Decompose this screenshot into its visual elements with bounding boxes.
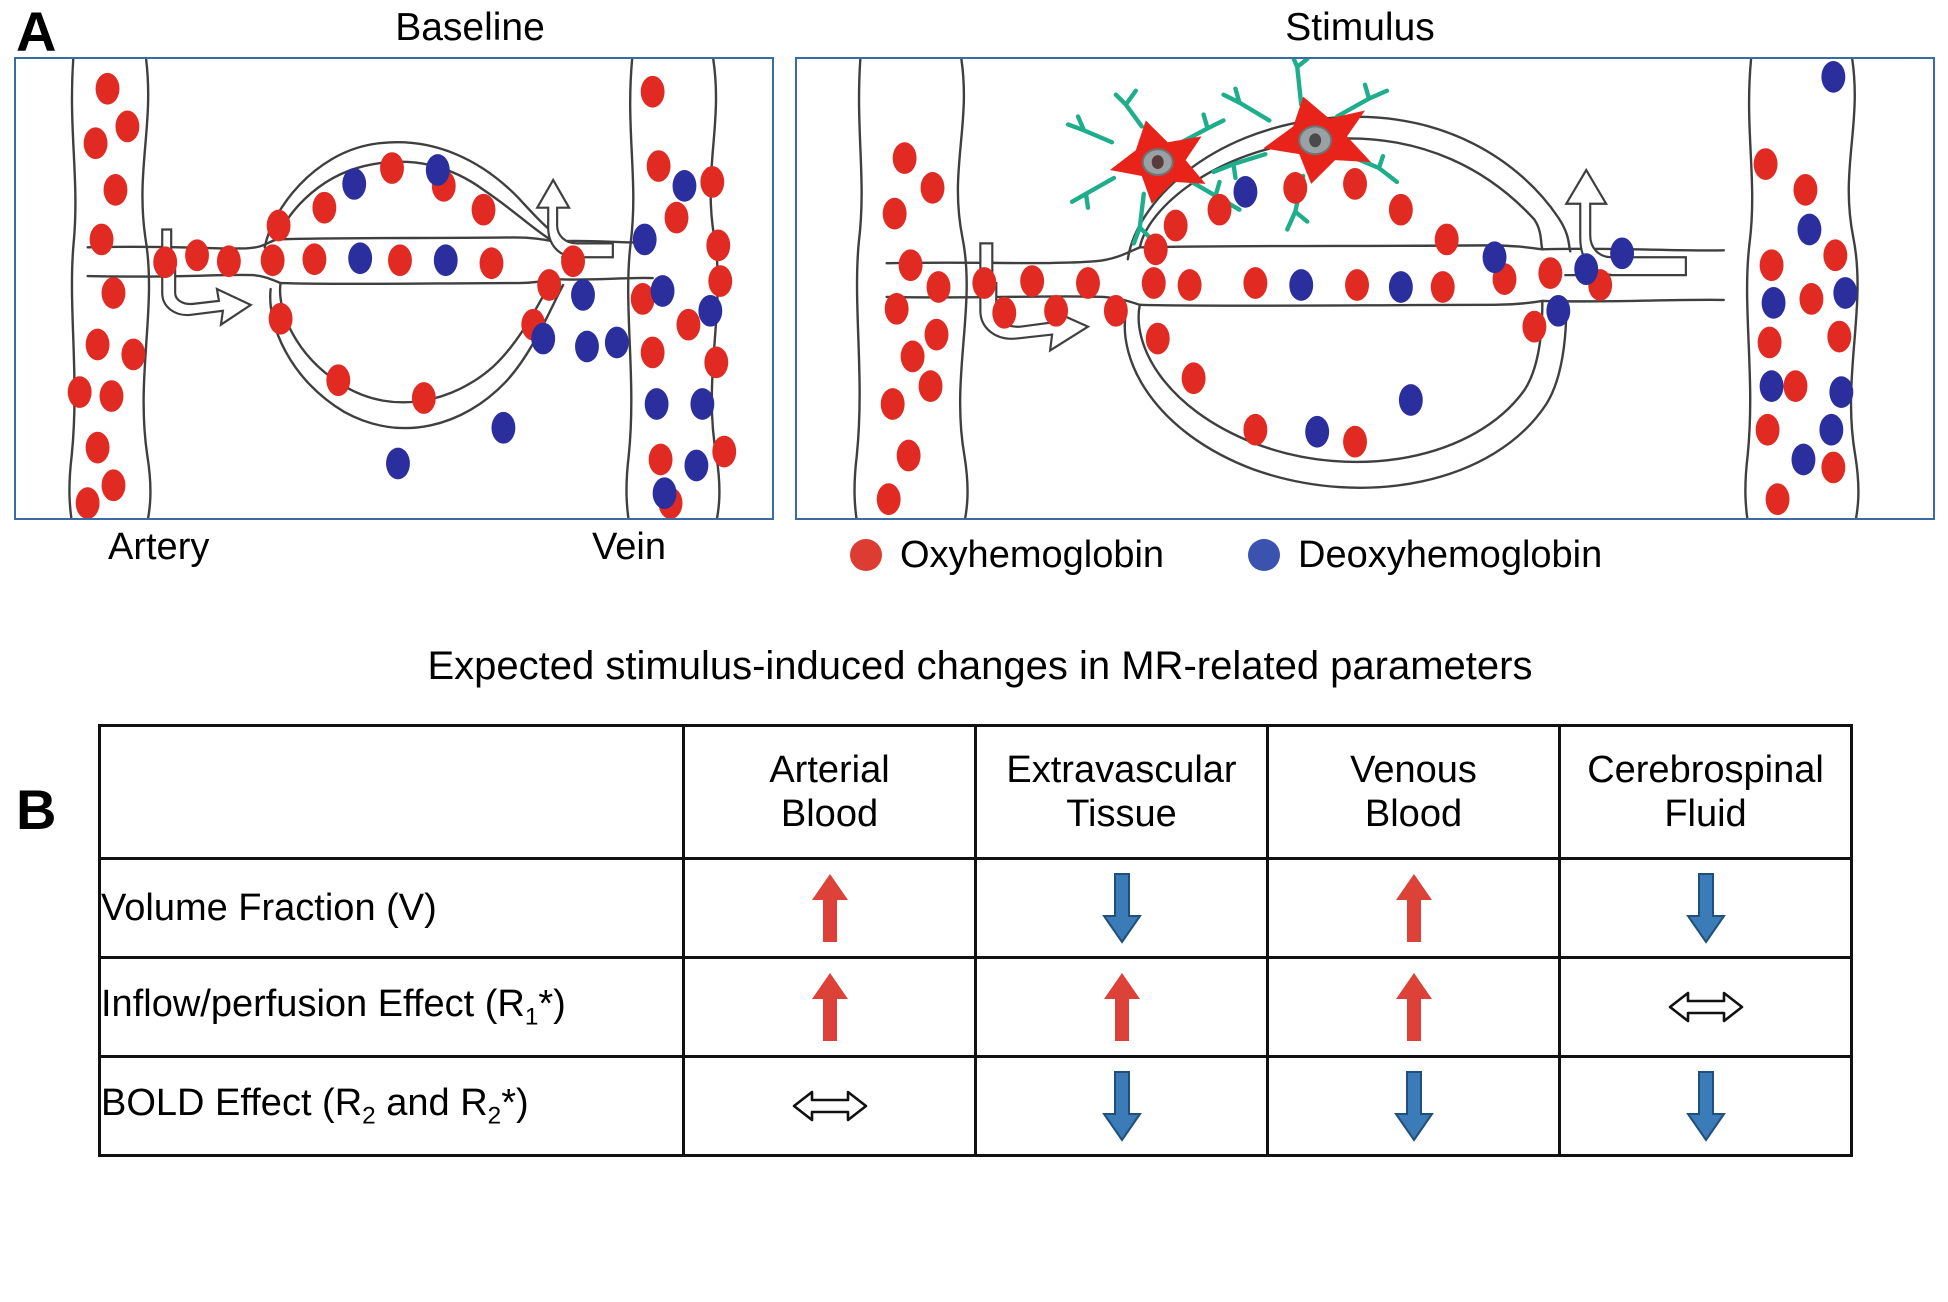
cell-extravascular-tissue-row-0 bbox=[976, 859, 1268, 958]
cell-arterial-blood-row-0 bbox=[684, 859, 976, 958]
header-venous-blood: Venous Blood bbox=[1268, 726, 1560, 859]
header-blank bbox=[100, 726, 684, 859]
mr-parameters-table: Arterial Blood Extravascular Tissue Veno… bbox=[98, 724, 1853, 1157]
table-row: Volume Fraction (V) bbox=[100, 859, 1852, 958]
baseline-vasculature-svg bbox=[16, 59, 772, 518]
cell-extravascular-tissue-row-2 bbox=[976, 1057, 1268, 1156]
cell-cerebrospinal-fluid-row-1 bbox=[1560, 958, 1852, 1057]
double-headed-arrow-icon bbox=[1561, 959, 1850, 1055]
header-arterial-blood: Arterial Blood bbox=[684, 726, 976, 859]
header-line-2: Blood bbox=[685, 792, 974, 836]
artery-label: Artery bbox=[108, 528, 209, 566]
cell-venous-blood-row-0 bbox=[1268, 859, 1560, 958]
red-up-arrow-icon bbox=[1269, 860, 1558, 956]
cell-cerebrospinal-fluid-row-2 bbox=[1560, 1057, 1852, 1156]
vein-label: Vein bbox=[592, 528, 666, 566]
table-row: BOLD Effect (R2 and R2*) bbox=[100, 1057, 1852, 1156]
header-extravascular-tissue: Extravascular Tissue bbox=[976, 726, 1268, 859]
inflow-arrow-icon bbox=[162, 230, 251, 325]
header-line-1: Arterial bbox=[685, 748, 974, 792]
panel-a-letter: A bbox=[16, 4, 56, 60]
header-line-1: Extravascular bbox=[977, 748, 1266, 792]
red-up-arrow-icon bbox=[685, 860, 974, 956]
red-up-arrow-icon bbox=[977, 959, 1266, 1055]
cell-arterial-blood-row-1 bbox=[684, 958, 976, 1057]
baseline-title: Baseline bbox=[160, 8, 780, 47]
table-row: Inflow/perfusion Effect (R1*) bbox=[100, 958, 1852, 1057]
blue-down-arrow-icon bbox=[1269, 1058, 1558, 1154]
blue-down-arrow-icon bbox=[1561, 1058, 1850, 1154]
header-line-2: Blood bbox=[1269, 792, 1558, 836]
cell-venous-blood-row-2 bbox=[1268, 1057, 1560, 1156]
double-headed-arrow-icon bbox=[685, 1058, 974, 1154]
stimulus-vasculature-svg bbox=[797, 59, 1933, 518]
hemoglobin-legend: Oxyhemoglobin Deoxyhemoglobin bbox=[850, 525, 1940, 585]
header-cerebrospinal-fluid: Cerebrospinal Fluid bbox=[1560, 726, 1852, 859]
cell-arterial-blood-row-2 bbox=[684, 1057, 976, 1156]
panel-b-title: Expected stimulus-induced changes in MR-… bbox=[330, 646, 1630, 686]
legend-label-deoxyhemoglobin: Deoxyhemoglobin bbox=[1298, 536, 1602, 574]
row-label-1: Inflow/perfusion Effect (R1*) bbox=[100, 958, 684, 1057]
baseline-vessel-diagram bbox=[14, 57, 774, 520]
table-body: Volume Fraction (V)Inflow/perfusion Effe… bbox=[100, 859, 1852, 1156]
stimulus-vessel-diagram bbox=[795, 57, 1935, 520]
red-circle-icon bbox=[850, 539, 882, 571]
blue-circle-icon bbox=[1248, 539, 1280, 571]
table-header-row: Arterial Blood Extravascular Tissue Veno… bbox=[100, 726, 1852, 859]
header-line-2: Tissue bbox=[977, 792, 1266, 836]
row-label-2: BOLD Effect (R2 and R2*) bbox=[100, 1057, 684, 1156]
header-line-2: Fluid bbox=[1561, 792, 1850, 836]
legend-label-oxyhemoglobin: Oxyhemoglobin bbox=[900, 536, 1164, 574]
header-line-1: Cerebrospinal bbox=[1561, 748, 1850, 792]
header-line-1: Venous bbox=[1269, 748, 1558, 792]
blue-down-arrow-icon bbox=[1561, 860, 1850, 956]
panel-b-letter: B bbox=[16, 782, 56, 838]
stimulus-title: Stimulus bbox=[1060, 8, 1660, 47]
cell-cerebrospinal-fluid-row-0 bbox=[1560, 859, 1852, 958]
panel-a: A Baseline Stimulus bbox=[0, 0, 1948, 740]
blue-down-arrow-icon bbox=[977, 860, 1266, 956]
red-up-arrow-icon bbox=[685, 959, 974, 1055]
red-up-arrow-icon bbox=[1269, 959, 1558, 1055]
legend-item-oxyhemoglobin: Oxyhemoglobin bbox=[850, 536, 1164, 574]
row-label-0: Volume Fraction (V) bbox=[100, 859, 684, 958]
cell-extravascular-tissue-row-1 bbox=[976, 958, 1268, 1057]
cell-venous-blood-row-1 bbox=[1268, 958, 1560, 1057]
panel-b: B Expected stimulus-induced changes in M… bbox=[0, 740, 1948, 1302]
legend-item-deoxyhemoglobin: Deoxyhemoglobin bbox=[1248, 536, 1602, 574]
blue-down-arrow-icon bbox=[977, 1058, 1266, 1154]
